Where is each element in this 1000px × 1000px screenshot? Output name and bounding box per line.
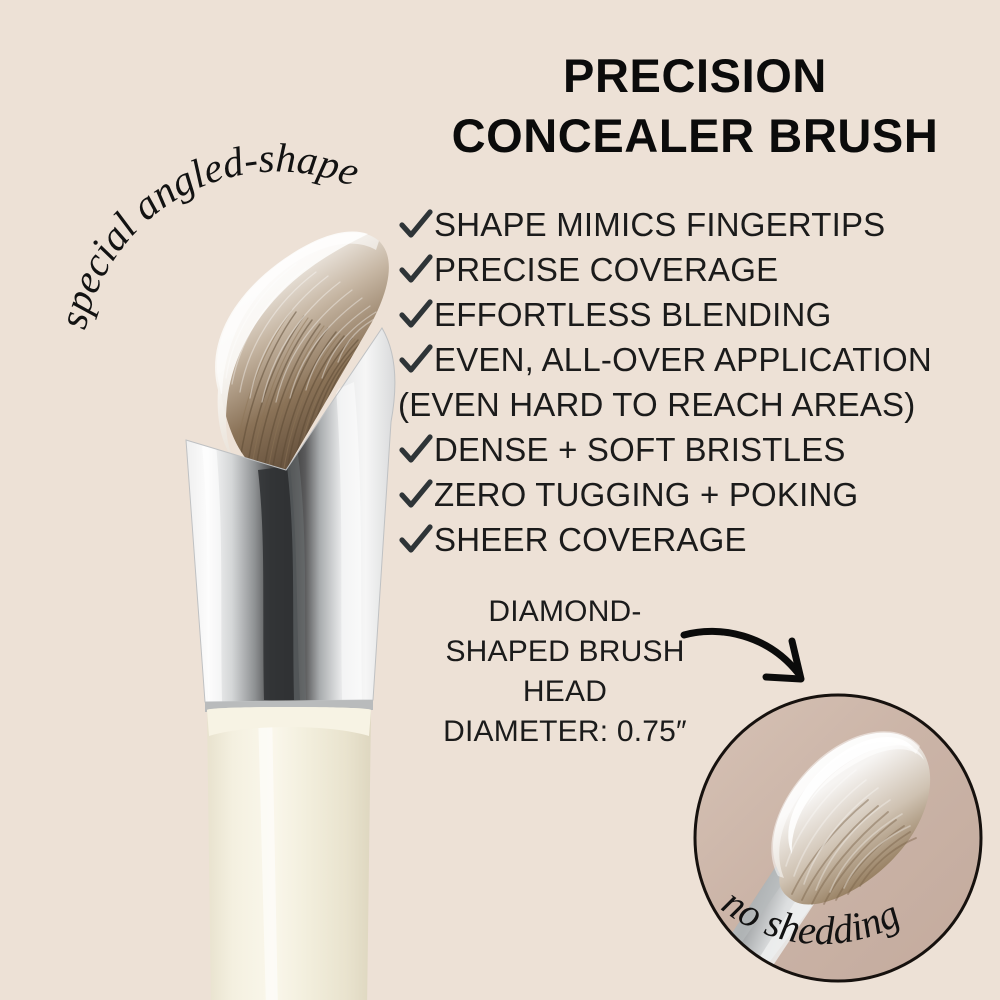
infographic-canvas: special angled-shape PRECISION CONCEALER… <box>0 0 1000 1000</box>
curved-label-angled-shape-text: special angled-shape <box>49 134 366 332</box>
page-title: PRECISION CONCEALER BRUSH <box>390 46 1000 166</box>
curved-label-no-shedding-text: no shedding <box>714 879 906 953</box>
feature-item: ZERO TUGGING + POKING <box>398 473 998 518</box>
check-icon <box>398 340 434 380</box>
feature-label: SHAPE MIMICS FINGERTIPS <box>434 203 885 247</box>
feature-item: EVEN, ALL-OVER APPLICATION <box>398 338 998 383</box>
feature-item: EFFORTLESS BLENDING <box>398 293 998 338</box>
caption-line-2: SHAPED BRUSH <box>420 632 710 672</box>
feature-item: PRECISE COVERAGE <box>398 248 998 293</box>
brush-handle <box>207 707 371 1000</box>
feature-item-continuation: (EVEN HARD TO REACH AREAS) <box>398 383 998 428</box>
feature-label: SHEER COVERAGE <box>434 518 747 562</box>
check-icon <box>398 205 434 245</box>
feature-label: EFFORTLESS BLENDING <box>434 293 831 337</box>
title-line-1: PRECISION <box>390 46 1000 106</box>
feature-label: ZERO TUGGING + POKING <box>434 473 858 517</box>
caption-line-1: DIAMOND- <box>420 592 710 632</box>
caption-line-4: DIAMETER: 0.75″ <box>420 712 710 752</box>
feature-label: DENSE + SOFT BRISTLES <box>434 428 846 472</box>
check-icon <box>398 520 434 560</box>
check-icon <box>398 430 434 470</box>
curved-label-no-shedding: no shedding <box>660 855 1000 995</box>
feature-item: DENSE + SOFT BRISTLES <box>398 428 998 473</box>
feature-label: (EVEN HARD TO REACH AREAS) <box>398 383 915 427</box>
caption-line-3: HEAD <box>420 672 710 712</box>
check-icon <box>398 475 434 515</box>
feature-label: PRECISE COVERAGE <box>434 248 778 292</box>
feature-item: SHEER COVERAGE <box>398 518 998 563</box>
feature-list: SHAPE MIMICS FINGERTIPS PRECISE COVERAGE… <box>398 203 998 563</box>
feature-item: SHAPE MIMICS FINGERTIPS <box>398 203 998 248</box>
brush-head-caption: DIAMOND- SHAPED BRUSH HEAD DIAMETER: 0.7… <box>420 592 710 752</box>
curved-label-angled-shape: special angled-shape <box>40 70 420 370</box>
title-line-2: CONCEALER BRUSH <box>390 106 1000 166</box>
check-icon <box>398 295 434 335</box>
check-icon <box>398 250 434 290</box>
feature-label: EVEN, ALL-OVER APPLICATION <box>434 338 932 382</box>
